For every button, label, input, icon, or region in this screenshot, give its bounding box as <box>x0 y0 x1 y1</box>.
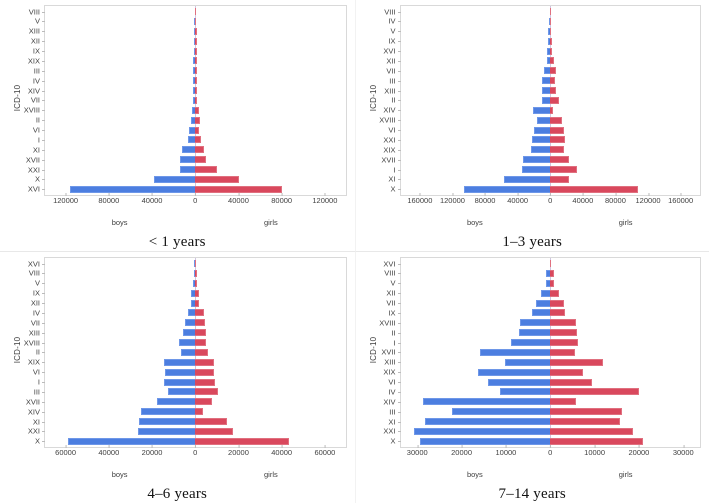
x-axis-2: 6000040000200000200004000060000 <box>44 448 347 470</box>
bar-row: XII <box>45 38 346 45</box>
bar-row: XXI <box>401 428 701 435</box>
plot-frame-0: VIIIVXIIIXIIIXXIXIIIIVXIVVIIXVIIIIIVIIXI… <box>44 5 347 196</box>
y-tick-mark <box>398 372 401 373</box>
x-tick-label: 0 <box>193 196 197 205</box>
bar-row: XVI <box>401 48 701 55</box>
y-tick-label: II <box>391 97 395 105</box>
x-tick-label: 60000 <box>55 448 76 457</box>
panel-title-2: 4–6 years <box>0 482 355 503</box>
panel-title-3: 7–14 years <box>356 482 709 503</box>
y-tick-label: V <box>390 28 395 36</box>
x-tick-mark <box>683 445 684 448</box>
bar-boys[interactable] <box>504 176 551 183</box>
bar-row: XI <box>401 176 701 183</box>
bar-row: IV <box>45 77 346 84</box>
bar-row: II <box>401 97 701 104</box>
x-legend-3: boysgirls <box>400 470 702 482</box>
y-tick-label: XIII <box>384 87 395 95</box>
x-tick-mark <box>325 193 326 196</box>
bar-girls[interactable] <box>550 369 583 376</box>
bar-boys[interactable] <box>542 97 551 104</box>
bar-boys[interactable] <box>520 319 550 326</box>
y-tick-label: VI <box>33 126 40 134</box>
bar-boys[interactable] <box>542 77 550 84</box>
bar-girls[interactable] <box>195 260 196 267</box>
bar-girls[interactable] <box>195 418 226 425</box>
bar-girls[interactable] <box>195 388 218 395</box>
y-tick-label: XVI <box>383 47 395 55</box>
bar-girls[interactable] <box>550 117 561 124</box>
y-tick-label: II <box>36 349 40 357</box>
bar-girls[interactable] <box>195 87 197 94</box>
y-tick-label: III <box>34 67 40 75</box>
y-tick-mark <box>42 61 45 62</box>
y-tick-label: XIV <box>28 408 40 416</box>
bar-girls[interactable] <box>550 329 576 336</box>
y-tick-mark <box>398 120 401 121</box>
bar-row: XIX <box>401 146 701 153</box>
bar-girls[interactable] <box>550 166 577 173</box>
y-tick-mark <box>398 21 401 22</box>
x-tick-label: 40000 <box>98 448 119 457</box>
bar-boys[interactable] <box>139 418 195 425</box>
bar-boys[interactable] <box>183 329 195 336</box>
bar-row: XII <box>401 57 701 64</box>
bar-girls[interactable] <box>550 428 633 435</box>
x-legend-0: boysgirls <box>44 218 347 230</box>
bar-girls[interactable] <box>195 107 198 114</box>
bar-boys[interactable] <box>165 369 196 376</box>
bar-row: II <box>45 349 346 356</box>
bar-row: III <box>401 77 701 84</box>
y-tick-label: XII <box>31 37 40 45</box>
x-tick-label: 20000 <box>228 448 249 457</box>
bar-row: XVII <box>401 349 701 356</box>
bar-girls[interactable] <box>550 18 551 25</box>
bar-girls[interactable] <box>550 67 556 74</box>
bar-girls[interactable] <box>550 260 551 267</box>
bar-girls[interactable] <box>550 300 564 307</box>
bar-girls[interactable] <box>550 38 551 45</box>
y-tick-label: XIV <box>383 398 395 406</box>
bar-boys[interactable] <box>500 388 550 395</box>
bar-boys[interactable] <box>164 379 195 386</box>
y-tick-label: VIII <box>384 8 395 16</box>
bar-girls[interactable] <box>550 438 642 445</box>
bar-row: XXI <box>45 166 346 173</box>
y-tick-label: XXI <box>28 166 40 174</box>
bar-girls[interactable] <box>195 28 196 35</box>
bar-girls[interactable] <box>195 38 196 45</box>
bar-boys[interactable] <box>68 438 196 445</box>
bar-row: I <box>401 166 701 173</box>
x-tick-label: 80000 <box>271 196 292 205</box>
bar-girls[interactable] <box>550 379 592 386</box>
bar-girls[interactable] <box>550 290 559 297</box>
bar-girls[interactable] <box>550 388 639 395</box>
x-tick-label: 0 <box>548 196 552 205</box>
y-tick-mark <box>398 362 401 363</box>
bar-row: XIII <box>401 87 701 94</box>
y-tick-mark <box>42 372 45 373</box>
y-tick-mark <box>398 402 401 403</box>
y-tick-label: XVIII <box>24 339 40 347</box>
y-tick-label: III <box>34 388 40 396</box>
bar-boys[interactable] <box>541 290 551 297</box>
bar-boys[interactable] <box>188 136 195 143</box>
bar-boys[interactable] <box>425 418 551 425</box>
bar-girls[interactable] <box>550 48 552 55</box>
panel-0: ICD-10 VIIIVXIIIXIIIXXIXIIIIVXIVVIIXVIII… <box>0 0 355 252</box>
bar-girls[interactable] <box>195 176 239 183</box>
x-tick-mark <box>152 193 153 196</box>
y-tick-label: X <box>390 186 395 194</box>
bar-row: V <box>45 18 346 25</box>
y-tick-label: V <box>390 280 395 288</box>
x-tick-mark <box>282 193 283 196</box>
bar-girls[interactable] <box>550 156 569 163</box>
y-tick-label: II <box>391 329 395 337</box>
bar-boys[interactable] <box>536 300 551 307</box>
bar-boys[interactable] <box>534 127 550 134</box>
bar-girls[interactable] <box>195 359 214 366</box>
y-tick-label: XVIII <box>379 319 395 327</box>
x-tick-label: 20000 <box>142 448 163 457</box>
bar-boys[interactable] <box>185 319 195 326</box>
bar-row: XII <box>45 300 346 307</box>
bar-row: X <box>401 438 701 445</box>
bar-boys[interactable] <box>542 87 550 94</box>
bar-boys[interactable] <box>180 156 195 163</box>
bar-boys[interactable] <box>537 117 551 124</box>
x-tick-mark <box>282 445 283 448</box>
bar-row: IX <box>401 38 701 45</box>
x-tick-label: 0 <box>193 448 197 457</box>
y-tick-mark <box>398 160 401 161</box>
y-tick-label: XVIII <box>24 107 40 115</box>
bar-row: XIV <box>45 87 346 94</box>
bar-row: I <box>401 339 701 346</box>
x-tick-mark <box>238 193 239 196</box>
bar-boys[interactable] <box>522 166 551 173</box>
y-tick-mark <box>398 422 401 423</box>
bar-boys[interactable] <box>157 398 195 405</box>
y-tick-mark <box>398 264 401 265</box>
x-axis-1: 1600001200008000040000040000800001200001… <box>400 196 702 218</box>
y-tick-label: XVII <box>381 349 395 357</box>
x-tick-label: 80000 <box>98 196 119 205</box>
bar-boys[interactable] <box>505 359 550 366</box>
y-tick-label: XIX <box>28 57 40 65</box>
bar-girls[interactable] <box>550 8 551 15</box>
bar-row: VII <box>45 319 346 326</box>
bar-girls[interactable] <box>550 309 565 316</box>
y-tick-label: II <box>36 116 40 124</box>
bar-boys[interactable] <box>544 67 551 74</box>
bar-row: VII <box>45 97 346 104</box>
bar-girls[interactable] <box>195 290 199 297</box>
y-tick-label: VIII <box>29 270 40 278</box>
x-axis-label-boys: boys <box>467 218 483 227</box>
x-tick-label: 120000 <box>53 196 78 205</box>
bar-boys[interactable] <box>488 379 550 386</box>
x-tick-mark <box>583 193 584 196</box>
bar-girls[interactable] <box>195 166 217 173</box>
y-tick-label: XIII <box>384 359 395 367</box>
x-tick-mark <box>238 445 239 448</box>
bar-girls[interactable] <box>550 87 556 94</box>
bar-boys[interactable] <box>464 186 551 193</box>
bar-boys[interactable] <box>478 369 551 376</box>
x-tick-label: 120000 <box>636 196 661 205</box>
y-axis-title-1: ICD-10 <box>368 85 377 112</box>
y-tick-mark <box>42 441 45 442</box>
y-tick-label: XI <box>388 176 395 184</box>
y-tick-mark <box>398 303 401 304</box>
bar-girls[interactable] <box>550 77 555 84</box>
bar-girls[interactable] <box>195 8 196 15</box>
y-tick-mark <box>42 160 45 161</box>
bar-girls[interactable] <box>550 359 603 366</box>
plot-area-3: ICD-10 XVIVIIIVXIIVIIIXXVIIIIIIXVIIXIIIX… <box>356 252 709 448</box>
y-tick-label: X <box>35 176 40 184</box>
y-tick-label: IV <box>388 388 395 396</box>
y-tick-label: I <box>38 378 40 386</box>
bar-boys[interactable] <box>532 309 550 316</box>
x-tick-label: 40000 <box>142 196 163 205</box>
y-tick-mark <box>398 273 401 274</box>
y-tick-mark <box>398 12 401 13</box>
bar-boys[interactable] <box>181 349 196 356</box>
bar-rows-2: XVIVIIIVIXXIIIVVIIXIIIXVIIIIIXIXVIIIIIXV… <box>45 258 346 447</box>
bar-boys[interactable] <box>531 146 550 153</box>
y-tick-label: VII <box>31 97 40 105</box>
bar-girls[interactable] <box>550 408 622 415</box>
y-tick-mark <box>42 179 45 180</box>
y-tick-label: XXI <box>28 428 40 436</box>
x-axis-label-girls: girls <box>619 470 633 479</box>
y-tick-label: XII <box>386 289 395 297</box>
y-tick-mark <box>398 61 401 62</box>
bar-girls[interactable] <box>195 136 200 143</box>
bar-row: II <box>45 117 346 124</box>
bar-girls[interactable] <box>550 176 569 183</box>
x-tick-mark <box>417 445 418 448</box>
y-tick-label: XII <box>386 57 395 65</box>
x-axis-label-girls: girls <box>264 218 278 227</box>
bar-boys[interactable] <box>188 309 195 316</box>
bar-row: VI <box>45 127 346 134</box>
y-tick-mark <box>398 382 401 383</box>
bar-row: III <box>45 388 346 395</box>
bar-row: XII <box>401 290 701 297</box>
bar-row: VII <box>401 300 701 307</box>
bar-girls[interactable] <box>550 127 564 134</box>
y-tick-label: I <box>393 166 395 174</box>
bar-girls[interactable] <box>195 127 199 134</box>
y-tick-mark <box>42 313 45 314</box>
bar-girls[interactable] <box>195 349 208 356</box>
bar-girls[interactable] <box>550 398 576 405</box>
x-tick-mark <box>506 445 507 448</box>
y-tick-mark <box>398 51 401 52</box>
y-tick-mark <box>42 51 45 52</box>
panel-2: ICD-10 XVIVIIIVIXXIIIVVIIXIIIXVIIIIIXIXV… <box>0 252 355 503</box>
y-tick-label: XIII <box>29 28 40 36</box>
y-tick-mark <box>398 283 401 284</box>
bar-girls[interactable] <box>550 319 576 326</box>
bar-girls[interactable] <box>550 57 553 64</box>
y-tick-label: III <box>389 77 395 85</box>
bar-girls[interactable] <box>195 280 197 287</box>
y-tick-label: XVI <box>28 260 40 268</box>
y-tick-label: X <box>390 438 395 446</box>
y-tick-mark <box>42 100 45 101</box>
figure-grid: ICD-10 VIIIVXIIIXIIIXXIXIIIIVXIVVIIXVIII… <box>0 0 709 490</box>
y-tick-mark <box>398 392 401 393</box>
bar-row: IX <box>45 290 346 297</box>
bar-row: I <box>45 379 346 386</box>
x-tick-mark <box>452 193 453 196</box>
bar-girls[interactable] <box>550 136 565 143</box>
bar-girls[interactable] <box>195 57 197 64</box>
bar-boys[interactable] <box>154 176 195 183</box>
bar-girls[interactable] <box>195 329 206 336</box>
bar-girls[interactable] <box>550 28 551 35</box>
x-tick-label: 30000 <box>673 448 694 457</box>
bar-row: XI <box>45 418 346 425</box>
bar-boys[interactable] <box>180 166 195 173</box>
bar-row: IX <box>401 309 701 316</box>
bar-girls[interactable] <box>550 280 554 287</box>
y-tick-mark <box>42 264 45 265</box>
bar-boys[interactable] <box>533 107 551 114</box>
bar-rows-0: VIIIVXIIIXIIIXXIXIIIIVXIVVIIXVIIIIIVIIXI… <box>45 6 346 195</box>
bar-boys[interactable] <box>423 398 551 405</box>
y-tick-mark <box>398 81 401 82</box>
bar-girls[interactable] <box>195 428 233 435</box>
y-tick-mark <box>42 431 45 432</box>
y-tick-mark <box>398 352 401 353</box>
bar-girls[interactable] <box>550 97 559 104</box>
y-tick-mark <box>398 293 401 294</box>
bar-rows-1: VIIIIVVIXXVIXIIVIIIIIXIIIIIXIVXVIIIVIXXI… <box>401 6 701 195</box>
bar-boys[interactable] <box>141 408 196 415</box>
bar-girls[interactable] <box>195 379 215 386</box>
bar-boys[interactable] <box>182 146 195 153</box>
bar-row: X <box>45 176 346 183</box>
bar-girls[interactable] <box>195 300 199 307</box>
bar-row: V <box>401 280 701 287</box>
y-tick-mark <box>398 412 401 413</box>
x-tick-mark <box>109 193 110 196</box>
bar-boys[interactable] <box>138 428 195 435</box>
y-tick-mark <box>42 412 45 413</box>
bar-girls[interactable] <box>550 349 575 356</box>
bar-row: XIII <box>45 329 346 336</box>
y-tick-label: VII <box>386 299 395 307</box>
x-tick-label: 10000 <box>495 448 516 457</box>
bar-boys[interactable] <box>532 136 550 143</box>
bar-girls[interactable] <box>195 97 197 104</box>
y-tick-label: XVII <box>381 156 395 164</box>
bar-row: VI <box>401 127 701 134</box>
y-tick-label: XVI <box>28 186 40 194</box>
bar-girls[interactable] <box>195 270 197 277</box>
x-tick-mark <box>639 445 640 448</box>
y-tick-label: XVI <box>383 260 395 268</box>
bar-boys[interactable] <box>511 339 550 346</box>
bar-girls[interactable] <box>550 418 620 425</box>
bar-girls[interactable] <box>195 67 197 74</box>
y-tick-mark <box>42 110 45 111</box>
y-tick-label: XVII <box>26 398 40 406</box>
y-tick-mark <box>42 333 45 334</box>
bar-girls[interactable] <box>550 146 564 153</box>
bar-girls[interactable] <box>195 77 197 84</box>
bar-girls[interactable] <box>195 438 289 445</box>
y-tick-mark <box>398 179 401 180</box>
bar-girls[interactable] <box>550 107 553 114</box>
bar-girls[interactable] <box>195 186 282 193</box>
bar-girls[interactable] <box>195 146 204 153</box>
bar-girls[interactable] <box>195 18 196 25</box>
bar-boys[interactable] <box>70 186 196 193</box>
bar-girls[interactable] <box>195 117 200 124</box>
x-legend-1: boysgirls <box>400 218 702 230</box>
bar-girls[interactable] <box>550 270 554 277</box>
bar-girls[interactable] <box>195 319 204 326</box>
x-tick-mark <box>615 193 616 196</box>
panel-1: ICD-10 VIIIIVVIXXVIXIIVIIIIIXIIIIIXIVXVI… <box>355 0 709 252</box>
bar-girls[interactable] <box>195 48 197 55</box>
bar-boys[interactable] <box>164 359 195 366</box>
bar-girls[interactable] <box>550 186 638 193</box>
x-tick-label: 40000 <box>572 196 593 205</box>
bar-boys[interactable] <box>523 156 551 163</box>
y-tick-label: XVIII <box>379 116 395 124</box>
bar-boys[interactable] <box>179 339 195 346</box>
bar-girls[interactable] <box>195 398 211 405</box>
x-axis-label-boys: boys <box>467 470 483 479</box>
bar-boys[interactable] <box>519 329 550 336</box>
bar-girls[interactable] <box>195 408 203 415</box>
bar-boys[interactable] <box>414 428 551 435</box>
y-tick-label: XI <box>388 418 395 426</box>
bar-girls[interactable] <box>195 339 205 346</box>
bar-row: XIV <box>45 408 346 415</box>
bar-girls[interactable] <box>195 156 206 163</box>
x-tick-mark <box>420 193 421 196</box>
bar-row: XVIII <box>401 319 701 326</box>
bar-boys[interactable] <box>168 388 195 395</box>
bar-boys[interactable] <box>420 438 550 445</box>
y-tick-label: I <box>393 339 395 347</box>
bar-girls[interactable] <box>195 369 214 376</box>
y-tick-label: XII <box>31 299 40 307</box>
bar-girls[interactable] <box>550 339 577 346</box>
bar-row: III <box>401 408 701 415</box>
bar-boys[interactable] <box>480 349 550 356</box>
x-tick-label: 160000 <box>668 196 693 205</box>
y-tick-mark <box>398 140 401 141</box>
y-tick-mark <box>42 303 45 304</box>
x-tick-mark <box>595 445 596 448</box>
bar-girls[interactable] <box>195 309 204 316</box>
bar-rows-3: XVIVIIIVXIIVIIIXXVIIIIIIXVIIXIIIXIXVIIVX… <box>401 258 701 447</box>
x-tick-mark <box>550 193 551 196</box>
bar-boys[interactable] <box>452 408 550 415</box>
